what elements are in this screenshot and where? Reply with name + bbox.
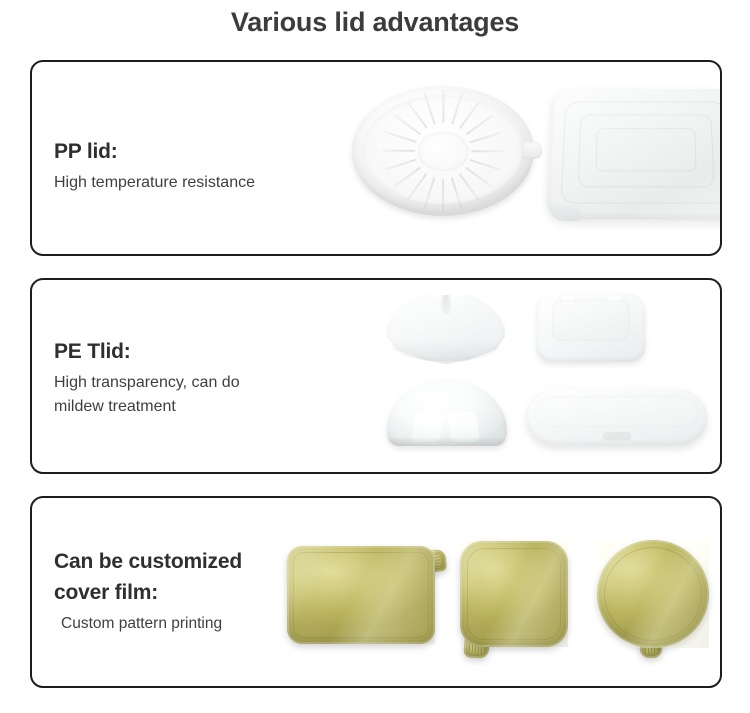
heart-shaped-dome-lid-image xyxy=(387,292,505,364)
film-inner-lip xyxy=(467,548,561,640)
lid-seam xyxy=(602,432,631,440)
lid-pull-tab xyxy=(522,142,542,159)
round-ribbed-pp-lid-image xyxy=(352,86,534,216)
pp-lid-subline: High temperature resistance xyxy=(54,171,339,195)
card-pe-lid: PE Tlid: High transparency, can do milde… xyxy=(30,278,722,474)
cover-film-text-block: Can be customized cover film: Custom pat… xyxy=(54,550,339,635)
pp-lid-product-stage xyxy=(332,62,720,254)
lid-center-hub xyxy=(418,132,469,171)
pp-lid-headline: PP lid: xyxy=(54,140,339,164)
pp-lid-text-block: PP lid: High temperature resistance xyxy=(54,140,339,195)
lid-top-panel xyxy=(533,396,700,428)
cover-film-subline: Custom pattern printing xyxy=(54,612,339,636)
pe-lid-subline-line1: High transparency, can do xyxy=(54,371,339,395)
card-cover-film: Can be customized cover film: Custom pat… xyxy=(30,496,722,688)
card-pp-lid: PP lid: High temperature resistance xyxy=(30,60,722,256)
film-plate xyxy=(597,540,709,648)
lid-top-panel xyxy=(552,299,630,341)
pe-lid-subline-line2: mildew treatment xyxy=(54,395,339,419)
pe-lid-text-block: PE Tlid: High transparency, can do milde… xyxy=(54,340,339,420)
lid-body xyxy=(525,388,709,446)
lid-body xyxy=(546,89,722,219)
cover-film-headline-line2: cover film: xyxy=(54,581,339,605)
lid-corner-notch xyxy=(548,205,580,222)
lid-lip xyxy=(387,438,507,446)
film-inner-lip xyxy=(604,547,702,641)
pe-lid-product-stage xyxy=(332,280,720,472)
oval-flat-lid-image xyxy=(525,388,709,446)
film-plate xyxy=(460,541,568,647)
lid-skirt xyxy=(391,340,502,362)
lid-crease xyxy=(441,295,450,314)
square-flat-lid-image xyxy=(536,293,646,361)
gold-round-cover-film-image xyxy=(597,540,709,648)
page-title: Various lid advantages xyxy=(0,7,750,38)
hemisphere-dome-lid-image xyxy=(387,380,507,446)
lid-body xyxy=(387,380,507,446)
lid-body xyxy=(536,293,646,361)
lid-ridge-inner xyxy=(595,128,696,171)
lid-nub-right xyxy=(606,295,623,301)
lid-nub-left xyxy=(559,295,576,301)
pe-lid-headline: PE Tlid: xyxy=(54,340,339,364)
rectangular-pp-lid-image xyxy=(546,89,722,219)
cover-film-product-stage xyxy=(332,498,720,686)
gold-square-cover-film-image xyxy=(460,541,568,647)
cover-film-headline-line1: Can be customized xyxy=(54,550,339,574)
